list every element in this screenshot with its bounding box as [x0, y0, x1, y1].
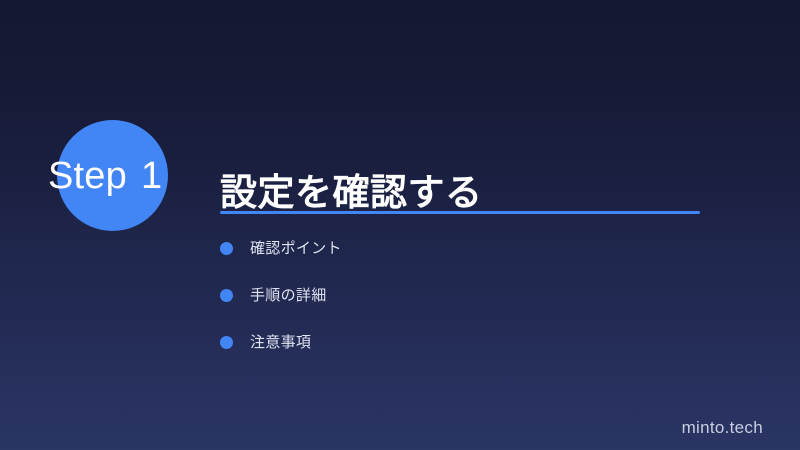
slide-canvas: Step 1 設定を確認する 確認ポイント 手順の詳細 注意事項 minto.t…	[0, 0, 800, 450]
step-badge-word: Step	[48, 157, 127, 195]
slide-title: 設定を確認する	[220, 172, 760, 215]
bullet-list: 確認ポイント 手順の詳細 注意事項	[220, 236, 700, 354]
list-item-label: 注意事項	[250, 335, 311, 350]
list-item-label: 手順の詳細	[250, 288, 327, 303]
brand-watermark: minto.tech	[682, 419, 763, 436]
bullet-dot-icon	[220, 242, 233, 255]
step-badge-number: 1	[141, 157, 162, 195]
title-accent-rule	[220, 211, 700, 214]
step-badge-label: Step 1	[48, 152, 208, 200]
list-item: 手順の詳細	[220, 283, 700, 307]
bullet-dot-icon	[220, 336, 233, 349]
list-item-label: 確認ポイント	[250, 241, 342, 256]
list-item: 確認ポイント	[220, 236, 700, 260]
bullet-dot-icon	[220, 289, 233, 302]
list-item: 注意事項	[220, 330, 700, 354]
